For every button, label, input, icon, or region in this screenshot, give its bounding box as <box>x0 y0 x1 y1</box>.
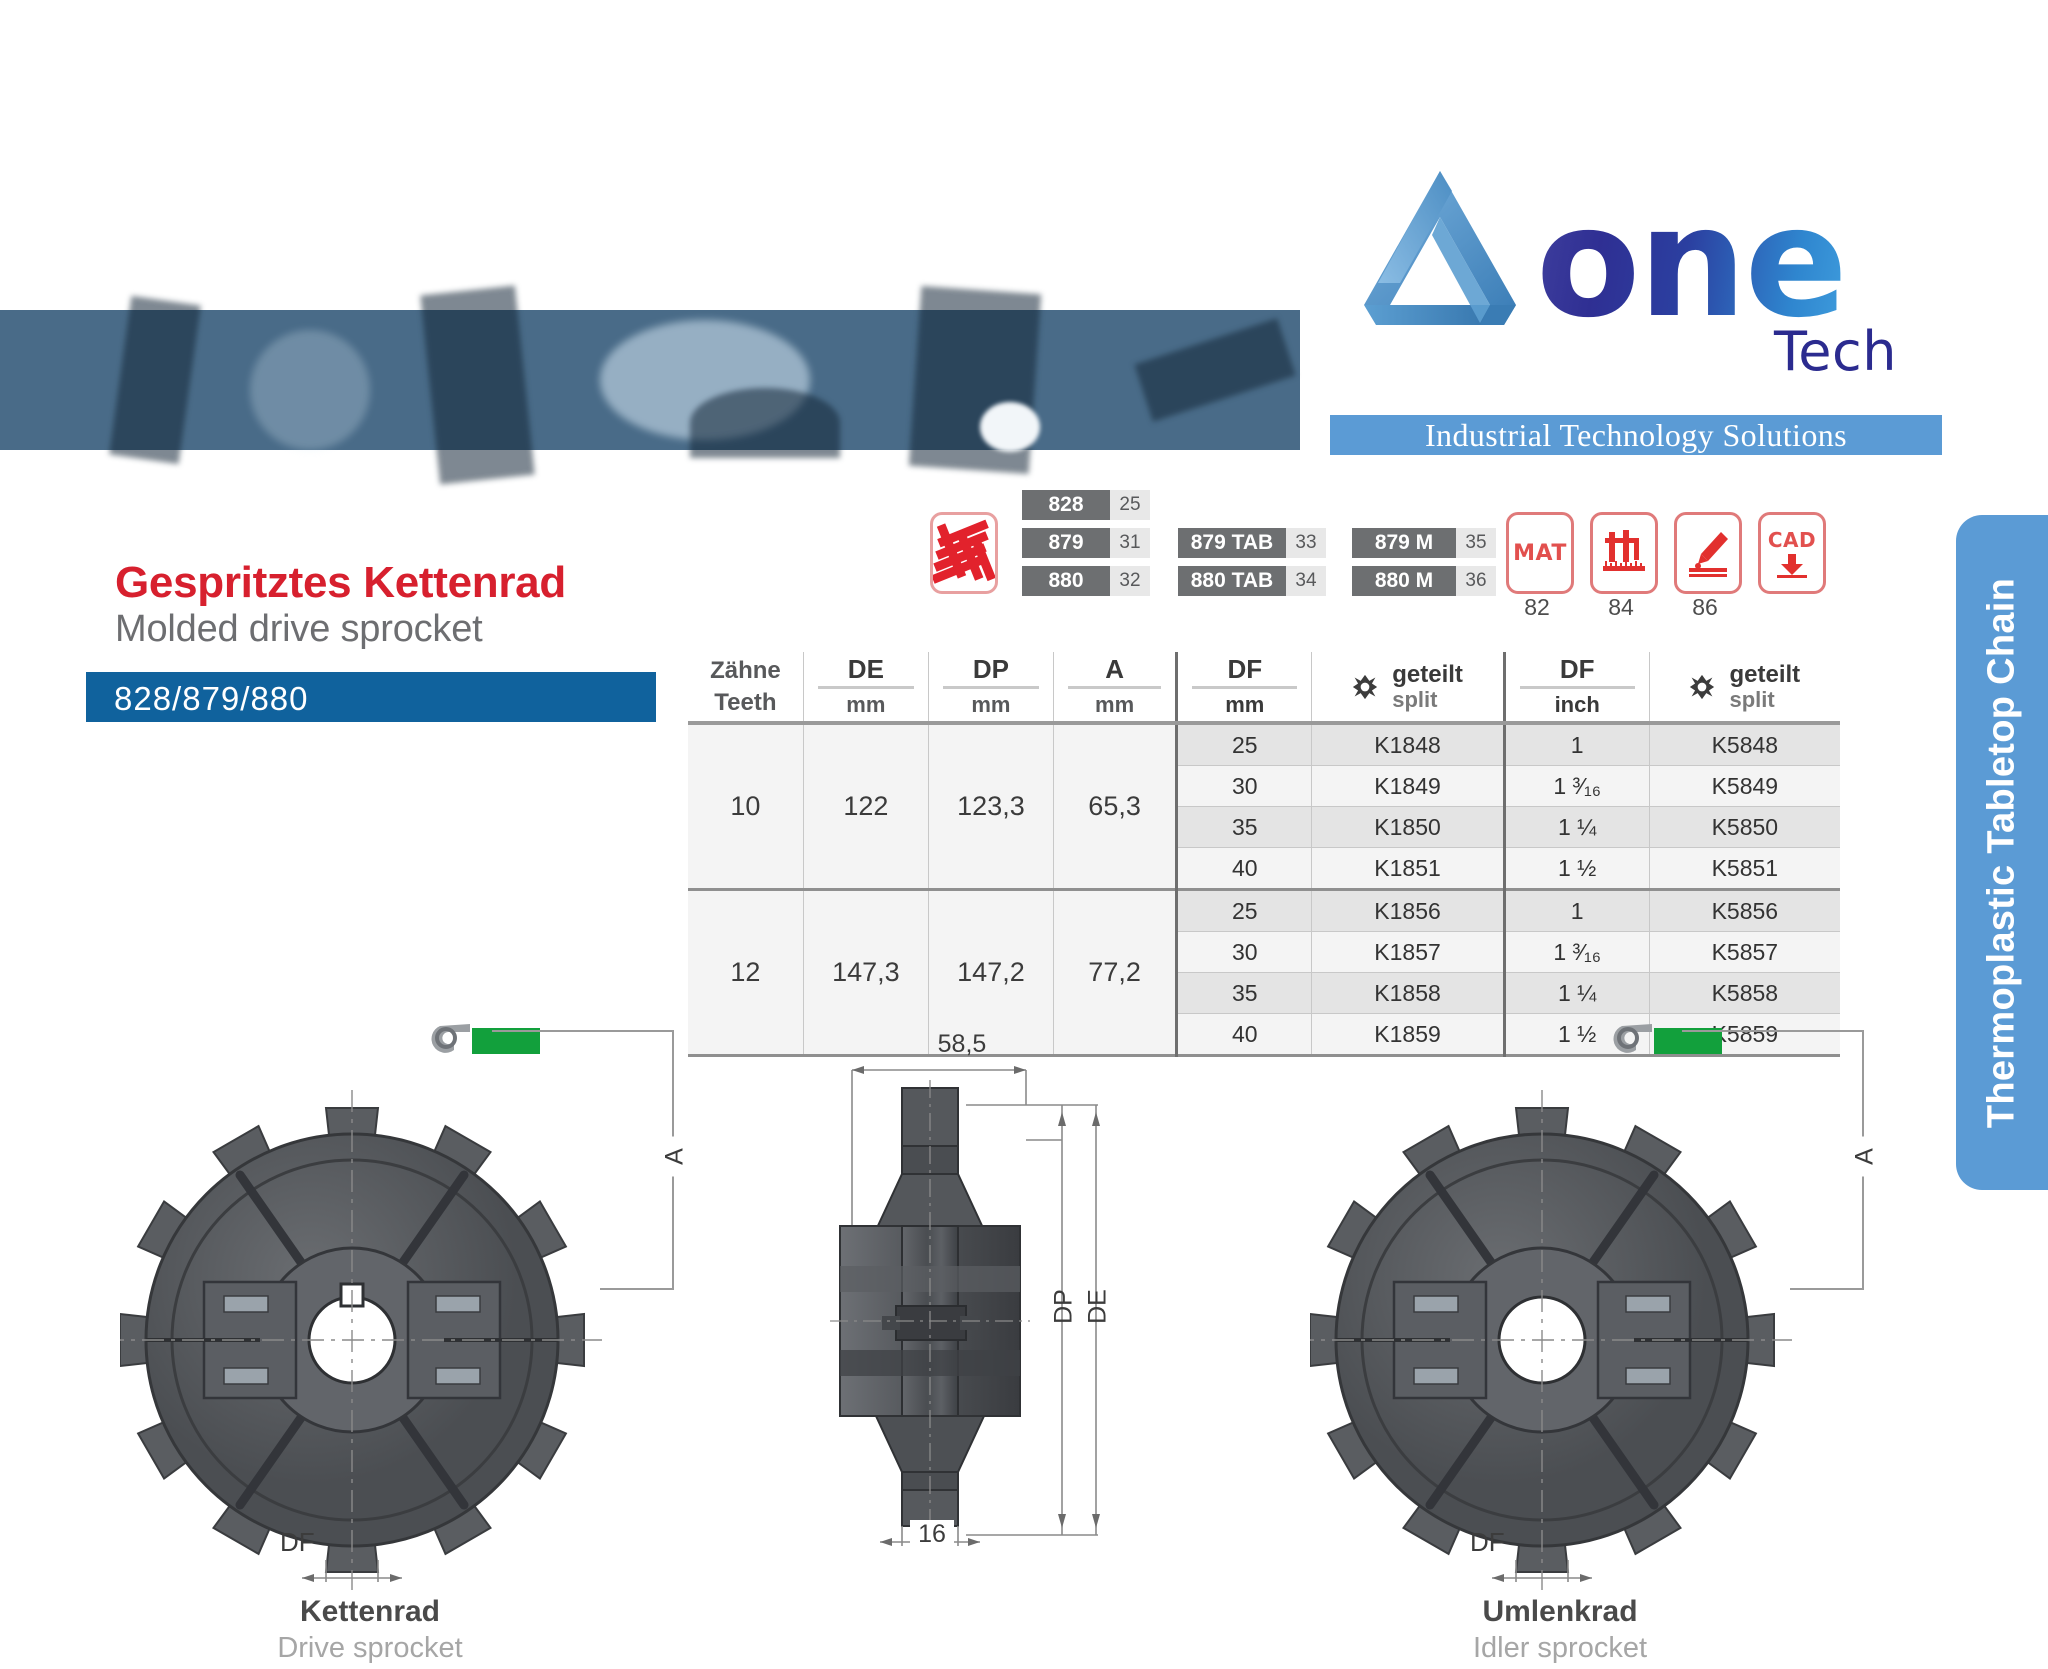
chain-link-icon-left <box>430 1018 550 1064</box>
dim-ext-a-left-bot <box>600 1288 674 1290</box>
material-icon[interactable]: MAT <box>1506 512 1574 594</box>
drawing-sprocket-section: 58,5 DP DE 16 <box>830 1030 1160 1550</box>
dim-label-dp: DP <box>1050 1285 1079 1329</box>
caliper-glyph <box>1601 528 1647 578</box>
caliper-icon-page: 84 <box>1590 594 1652 621</box>
col-dp: DP mm <box>928 652 1053 723</box>
drawing-idler-sprocket: DF <box>1310 1090 1870 1590</box>
series-badge-label: 828/879/880 <box>114 680 309 718</box>
specifications-table: Zähne Teeth DE mm DP mm A mm <box>688 652 1840 1057</box>
caption-idler-sprocket-de: Umlenkrad <box>1320 1595 1800 1629</box>
triangle-ribbon-logo-icon <box>1340 165 1540 335</box>
chain-link-icon-right <box>1612 1018 1732 1064</box>
caption-drive-sprocket-en: Drive sprocket <box>130 1632 610 1665</box>
page-title-english: Molded drive sprocket <box>115 608 483 651</box>
company-logo: one Tech <box>1340 165 1940 380</box>
cad-download-icon[interactable]: CAD <box>1758 512 1826 594</box>
material-icon-page: 82 <box>1506 594 1568 621</box>
dim-ext-a-right-bot <box>1790 1288 1864 1290</box>
weld-tool-icon[interactable] <box>1674 512 1742 594</box>
weld-tool-glyph <box>1685 528 1731 578</box>
table-row: 12 147,3 147,2 77,2 25 K1856 1 K5856 <box>688 890 1840 932</box>
col-a: A mm <box>1053 652 1176 723</box>
col-df-inch: DF inch <box>1504 652 1649 723</box>
dim-ext-a-right-top <box>1682 1030 1864 1032</box>
dim-label-a-left: A <box>661 1137 690 1177</box>
dim-label-de: DE <box>1084 1285 1113 1329</box>
idler-sprocket-front-view <box>1310 1090 1870 1590</box>
badge-879[interactable]: 879 31 <box>1022 528 1150 558</box>
drive-sprocket-front-view <box>120 1090 680 1590</box>
drawing-drive-sprocket: DF <box>120 1090 680 1590</box>
badge-879-m[interactable]: 879 M 35 <box>1352 528 1496 558</box>
weld-tool-icon-page: 86 <box>1674 594 1736 621</box>
split-hub-icon <box>1352 674 1378 700</box>
dim-label-width: 58,5 <box>902 1030 1022 1059</box>
reference-badge-row: 828 25 879 31 880 32 879 TAB 33 880 TAB … <box>930 490 1930 620</box>
chain-link-glyph <box>1612 1018 1732 1064</box>
split-hub-icon <box>1689 674 1715 700</box>
series-badge: 828/879/880 <box>86 672 656 722</box>
caliper-icon[interactable] <box>1590 512 1658 594</box>
side-tab-label: Thermoplastic Tabletop Chain <box>1981 577 2024 1127</box>
table-row: 10 122 123,3 65,3 25 K1848 1 K5848 <box>688 723 1840 766</box>
logo-tagline: Industrial Technology Solutions <box>1330 415 1942 455</box>
chain-segments-icon <box>930 512 998 594</box>
badge-828[interactable]: 828 25 <box>1022 490 1150 520</box>
badge-880-m[interactable]: 880 M 36 <box>1352 566 1496 596</box>
dim-label-hub-width: 16 <box>910 1520 954 1549</box>
col-split-inch: geteilt split <box>1649 652 1840 723</box>
header-photo-banner <box>0 310 1300 450</box>
section-tab-thermoplastic-tabletop-chain[interactable]: Thermoplastic Tabletop Chain <box>1956 515 2048 1190</box>
caption-idler-sprocket-en: Idler sprocket <box>1320 1632 1800 1665</box>
col-df-mm: DF mm <box>1177 652 1312 723</box>
dim-ext-a-left-top <box>492 1030 674 1032</box>
logo-wordmark: one <box>1536 187 1846 339</box>
col-split-mm: geteilt split <box>1312 652 1504 723</box>
badge-880[interactable]: 880 32 <box>1022 566 1150 596</box>
col-teeth: Zähne Teeth <box>688 652 803 723</box>
dim-label-df-left: DF <box>280 1527 315 1558</box>
caption-drive-sprocket-de: Kettenrad <box>130 1595 610 1629</box>
dim-label-df-right: DF <box>1470 1527 1505 1558</box>
table-header-row: Zähne Teeth DE mm DP mm A mm <box>688 652 1840 723</box>
download-arrow-glyph <box>1775 554 1809 578</box>
badge-880-tab[interactable]: 880 TAB 34 <box>1178 566 1326 596</box>
col-de: DE mm <box>803 652 928 723</box>
dim-label-a-right: A <box>1851 1137 1880 1177</box>
page-title-german: Gespritztes Kettenrad <box>115 558 566 608</box>
logo-subwordmark: Tech <box>1774 325 1897 379</box>
badge-879-tab[interactable]: 879 TAB 33 <box>1178 528 1326 558</box>
chain-link-glyph <box>430 1018 550 1064</box>
